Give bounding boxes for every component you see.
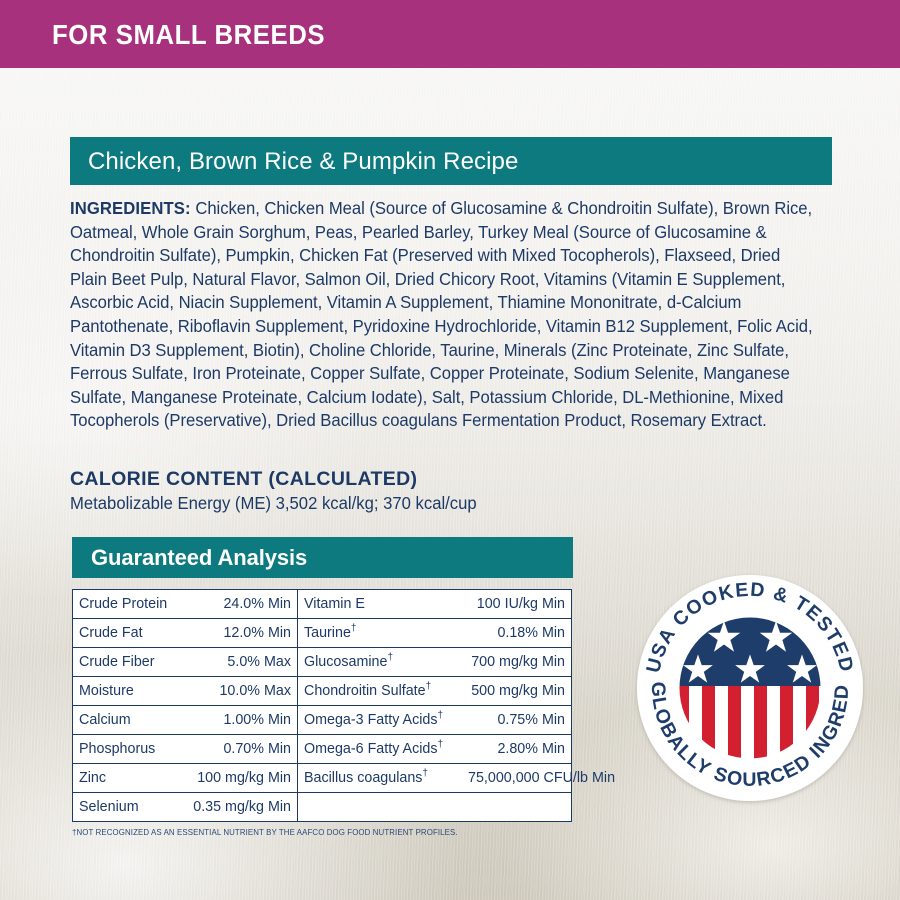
nutrient-name-right xyxy=(298,793,463,822)
banner-title: FOR SMALL BREEDS xyxy=(52,19,325,51)
calorie-content-block: CALORIE CONTENT (CALCULATED) Metabolizab… xyxy=(70,467,770,515)
dagger-marker: † xyxy=(422,768,428,779)
small-breeds-banner: FOR SMALL BREEDS xyxy=(0,0,900,68)
nutrient-value-left: 5.0% Max xyxy=(183,648,298,677)
ingredients-label: INGREDIENTS: xyxy=(70,199,195,218)
dagger-marker: † xyxy=(438,710,444,721)
table-row: Phosphorus0.70% MinOmega-6 Fatty Acids†2… xyxy=(73,735,571,764)
nutrient-name-right: Chondroitin Sulfate† xyxy=(298,677,463,706)
nutrient-name-left: Calcium xyxy=(73,706,183,735)
nutrient-value-left: 24.0% Min xyxy=(183,590,298,619)
nutrient-name-left: Moisture xyxy=(73,677,183,706)
guaranteed-analysis-header: Guaranteed Analysis xyxy=(72,537,573,578)
table-row: Calcium1.00% MinOmega-3 Fatty Acids†0.75… xyxy=(73,706,571,735)
nutrient-name-right: Vitamin E xyxy=(298,590,463,619)
calorie-heading: CALORIE CONTENT (CALCULATED) xyxy=(70,467,770,491)
nutrient-value-right: 700 mg/kg Min xyxy=(462,648,571,677)
nutrient-name-left: Crude Protein xyxy=(73,590,183,619)
nutrient-name-left: Zinc xyxy=(73,764,183,793)
guaranteed-analysis-footnote: †NOT RECOGNIZED AS AN ESSENTIAL NUTRIENT… xyxy=(72,828,458,837)
nutrient-value-right: 500 mg/kg Min xyxy=(462,677,571,706)
nutrient-name-right: Omega-3 Fatty Acids† xyxy=(298,706,463,735)
ingredients-paragraph: INGREDIENTS: Chicken, Chicken Meal (Sour… xyxy=(70,197,819,433)
nutrient-value-left: 100 mg/kg Min xyxy=(183,764,298,793)
calorie-detail: Metabolizable Energy (ME) 3,502 kcal/kg;… xyxy=(70,493,753,515)
nutrient-name-right: Omega-6 Fatty Acids† xyxy=(298,735,463,764)
nutrient-name-left: Phosphorus xyxy=(73,735,183,764)
nutrient-name-right: Glucosamine† xyxy=(298,648,463,677)
nutrient-value-right: 2.80% Min xyxy=(462,735,571,764)
nutrient-value-right xyxy=(462,793,571,822)
nutrient-value-left: 1.00% Min xyxy=(183,706,298,735)
nutrient-value-right: 0.18% Min xyxy=(462,619,571,648)
guaranteed-analysis-table: Crude Protein24.0% MinVitamin E100 IU/kg… xyxy=(72,589,572,822)
nutrient-name-left: Crude Fiber xyxy=(73,648,183,677)
nutrient-name-left: Selenium xyxy=(73,793,183,822)
dagger-marker: † xyxy=(426,681,432,692)
ingredients-body: Chicken, Chicken Meal (Source of Glucosa… xyxy=(70,199,813,430)
table-row: Crude Protein24.0% MinVitamin E100 IU/kg… xyxy=(73,590,571,619)
dagger-marker: † xyxy=(387,652,393,663)
nutrient-value-right: 0.75% Min xyxy=(462,706,571,735)
table-row: Zinc100 mg/kg MinBacillus coagulans†75,0… xyxy=(73,764,571,793)
nutrient-value-left: 0.70% Min xyxy=(183,735,298,764)
nutrient-name-right: Taurine† xyxy=(298,619,463,648)
guaranteed-analysis-title: Guaranteed Analysis xyxy=(91,545,307,571)
usa-cooked-tested-seal: USA COOKED & TESTED WITH GLOBALLY SOURCE… xyxy=(628,566,872,810)
nutrient-value-right: 75,000,000 CFU/lb Min xyxy=(462,764,571,793)
table-row: Selenium0.35 mg/kg Min xyxy=(73,793,571,822)
recipe-title-bar: Chicken, Brown Rice & Pumpkin Recipe xyxy=(70,137,832,185)
nutrient-value-left: 10.0% Max xyxy=(183,677,298,706)
nutrient-value-left: 12.0% Min xyxy=(183,619,298,648)
nutrient-value-left: 0.35 mg/kg Min xyxy=(183,793,298,822)
nutrient-name-left: Crude Fat xyxy=(73,619,183,648)
table-row: Moisture10.0% MaxChondroitin Sulfate†500… xyxy=(73,677,571,706)
nutrient-value-right: 100 IU/kg Min xyxy=(462,590,571,619)
table-row: Crude Fiber5.0% MaxGlucosamine†700 mg/kg… xyxy=(73,648,571,677)
table-row: Crude Fat12.0% MinTaurine†0.18% Min xyxy=(73,619,571,648)
recipe-title: Chicken, Brown Rice & Pumpkin Recipe xyxy=(88,148,518,176)
nutrient-name-right: Bacillus coagulans† xyxy=(298,764,463,793)
dagger-marker: † xyxy=(351,623,357,634)
dagger-marker: † xyxy=(438,739,444,750)
